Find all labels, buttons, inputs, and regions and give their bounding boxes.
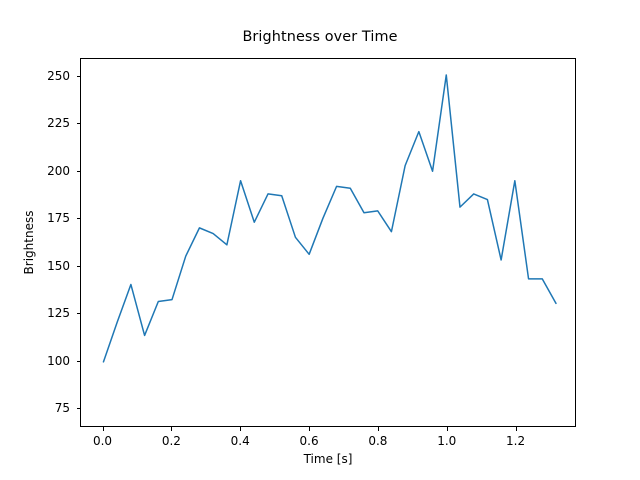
x-axis-label: Time [s]	[80, 452, 576, 466]
y-tick-label: 225	[47, 116, 70, 130]
x-tick-label: 0.8	[368, 434, 387, 448]
x-tick-mark	[309, 427, 310, 431]
x-tick-label: 1.2	[506, 434, 525, 448]
y-tick-label: 175	[47, 211, 70, 225]
x-tick-mark	[378, 427, 379, 431]
y-axis-tick-labels: 75100125150175200225250	[0, 0, 70, 480]
y-tick-label: 200	[47, 164, 70, 178]
line-series-brightness	[81, 59, 575, 426]
plot-area	[80, 58, 576, 427]
x-tick-mark	[447, 427, 448, 431]
x-tick-mark	[171, 427, 172, 431]
x-axis-tick-labels: 0.00.20.40.60.81.01.2	[0, 434, 640, 454]
matplotlib-figure: Brightness over Time Brightness Time [s]…	[0, 0, 640, 480]
y-tick-label: 125	[47, 306, 70, 320]
brightness-polyline	[103, 75, 556, 362]
y-tick-label: 150	[47, 259, 70, 273]
y-tick-label: 250	[47, 69, 70, 83]
x-tick-label: 0.0	[93, 434, 112, 448]
x-tick-mark	[240, 427, 241, 431]
chart-title: Brightness over Time	[0, 29, 640, 45]
x-tick-label: 1.0	[437, 434, 456, 448]
x-tick-mark	[516, 427, 517, 431]
x-tick-label: 0.2	[162, 434, 181, 448]
x-tick-label: 0.4	[231, 434, 250, 448]
y-tick-label: 100	[47, 354, 70, 368]
y-tick-label: 75	[55, 401, 70, 415]
x-tick-label: 0.6	[300, 434, 319, 448]
x-tick-mark	[103, 427, 104, 431]
